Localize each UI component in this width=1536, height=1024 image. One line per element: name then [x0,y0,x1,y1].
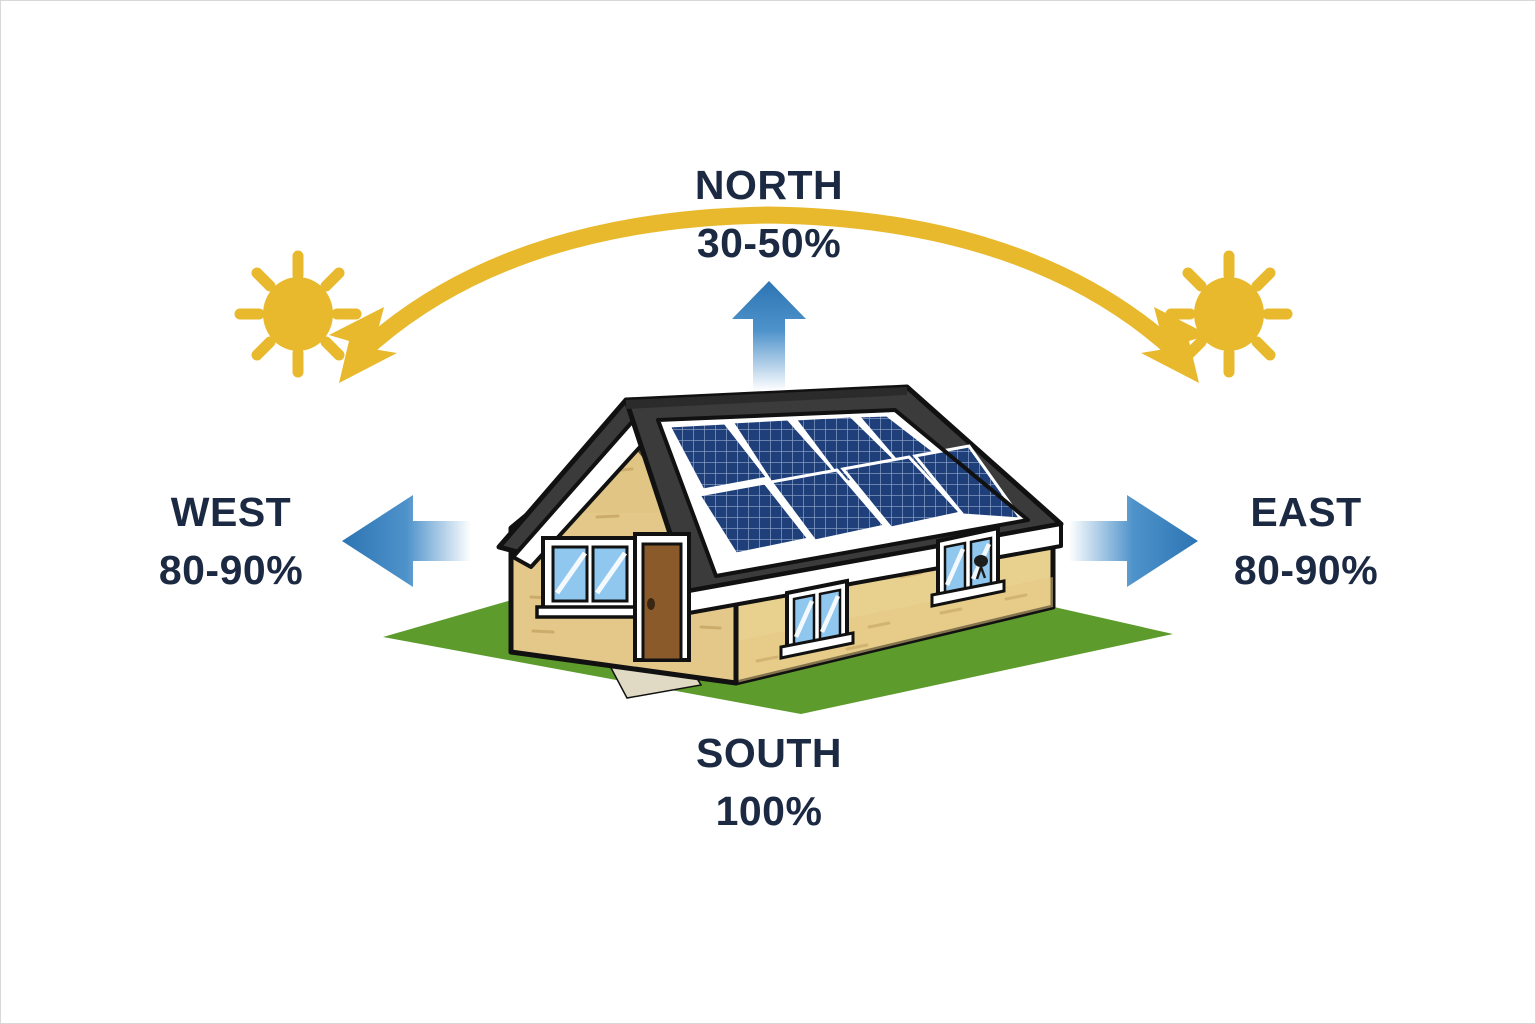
label-west: WEST 80-90% [86,488,376,595]
window-side-right [932,528,1004,606]
sun-icon-right [1171,256,1287,372]
label-east: EAST 80-90% [1161,488,1451,595]
label-north-value: 30-50% [569,219,969,267]
window-side-left [781,581,853,658]
front-door[interactable] [635,534,689,660]
label-north: NORTH 30-50% [569,161,969,268]
label-south-direction: SOUTH [569,729,969,777]
diagram-canvas: NORTH 30-50% SOUTH 100% WEST 80-90% EAST… [0,0,1536,1024]
label-east-value: 80-90% [1161,546,1451,594]
label-south: SOUTH 100% [569,729,969,836]
door-handle-icon [647,598,655,610]
sun-icon-left [240,256,356,372]
label-north-direction: NORTH [569,161,969,209]
north-arrow-icon [732,281,806,391]
window-front [537,538,641,617]
label-west-direction: WEST [86,488,376,536]
label-west-value: 80-90% [86,546,376,594]
label-east-direction: EAST [1161,488,1451,536]
label-south-value: 100% [569,787,969,835]
